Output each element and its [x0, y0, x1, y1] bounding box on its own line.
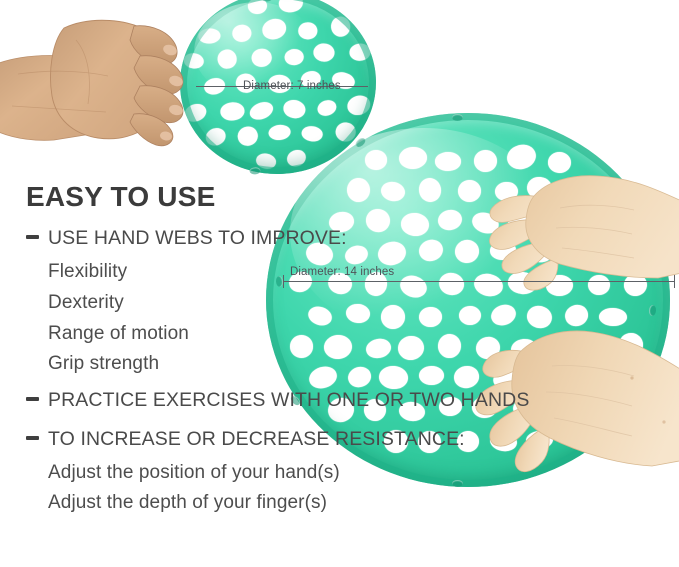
- measure-tick-right: [674, 275, 675, 288]
- small-disc-diameter-label: Diameter: 7 inches: [243, 80, 341, 92]
- sub-item: Range of motion: [48, 319, 496, 350]
- product-infographic: Diameter: 7 inches Diameter: 14 inches E…: [0, 0, 679, 567]
- disc-nub: [249, 167, 260, 175]
- spacer: [26, 419, 496, 426]
- bullet-item: TO INCREASE OR DECREASE RESISTANCE:: [26, 426, 496, 454]
- bullet-item: USE HAND WEBS TO IMPROVE:: [26, 225, 496, 253]
- sub-item: Dexterity: [48, 288, 496, 319]
- sub-item: Flexibility: [48, 257, 496, 288]
- disc-nub: [452, 114, 463, 121]
- bullet-item: PRACTICE EXERCISES WITH ONE OR TWO HANDS: [26, 387, 496, 415]
- page-title: EASY TO USE: [26, 182, 496, 211]
- sub-item: Grip strength: [48, 349, 496, 380]
- sub-item: Adjust the depth of your finger(s): [48, 488, 496, 519]
- bullet-label: USE HAND WEBS TO IMPROVE:: [48, 225, 347, 253]
- instructions-block: EASY TO USE USE HAND WEBS TO IMPROVE: Fl…: [26, 182, 496, 519]
- left-gripping-fist: [0, 8, 224, 156]
- dash-icon: [26, 397, 39, 401]
- sub-item: Adjust the position of your hand(s): [48, 458, 496, 489]
- bullet-label: TO INCREASE OR DECREASE RESISTANCE:: [48, 426, 465, 454]
- dash-icon: [26, 436, 39, 440]
- dash-icon: [26, 235, 39, 239]
- spacer: [26, 380, 496, 387]
- bullet-label: PRACTICE EXERCISES WITH ONE OR TWO HANDS: [48, 387, 529, 415]
